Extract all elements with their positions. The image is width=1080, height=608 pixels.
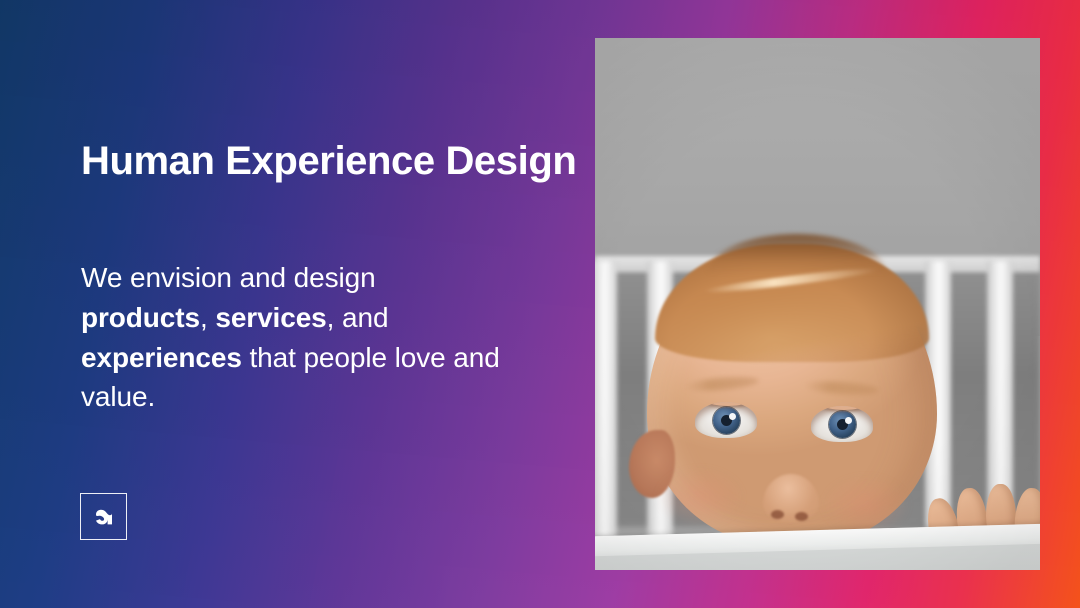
body-text: , [200,302,215,333]
body-emphasis: products [81,302,200,333]
body-emphasis: services [215,302,326,333]
photo-crib-slat [595,261,617,538]
photo-baby-eye [695,402,757,438]
photo-baby-nostril [771,510,784,519]
photo-baby-eye [811,406,873,442]
page-title: Human Experience Design [81,139,601,183]
brand-logo[interactable] [80,493,127,540]
body-paragraph: We envision and design products, service… [81,258,501,417]
photo-baby-eye-glint [729,413,736,420]
s-monogram-icon [91,504,117,530]
photo-baby-eye-glint [845,417,852,424]
photo-baby-iris [713,407,740,434]
body-emphasis: experiences [81,342,242,373]
baby-in-crib-photo [595,38,1040,570]
photo-baby-nostril [795,512,808,521]
body-text: , and [327,302,389,333]
photo-baby-cheek [657,468,743,526]
presentation-slide: Human Experience Design We envision and … [0,0,1080,608]
photo-baby-iris [829,411,856,438]
body-text: We envision and design [81,262,376,293]
photo-baby-cheek [823,476,909,534]
